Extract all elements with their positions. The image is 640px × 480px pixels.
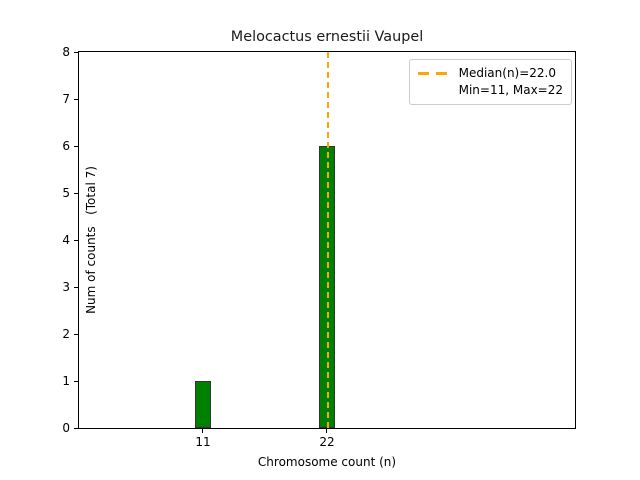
y-tick-label: 2 (62, 328, 70, 340)
y-tick-label: 7 (62, 93, 70, 105)
x-axis-label: Chromosome count (n) (78, 455, 576, 469)
plot-area: 0 1 2 3 4 5 6 (78, 51, 576, 429)
y-tick-label: 6 (62, 140, 70, 152)
y-axis-label: Num of counts (Total 7) (85, 166, 97, 314)
y-tick-label: 1 (62, 375, 70, 387)
y-tick-label: 5 (62, 187, 70, 199)
y-tick-mark (74, 287, 79, 288)
chart-legend: Median(n)=22.0 Min=11, Max=22 (409, 59, 572, 105)
legend-text: Median(n)=22.0 Min=11, Max=22 (459, 66, 563, 98)
y-tick-mark (74, 334, 79, 335)
y-tick-label: 3 (62, 281, 70, 293)
bar-11 (195, 381, 211, 428)
chart-title: Melocactus ernestii Vaupel (78, 28, 576, 46)
median-line (327, 52, 329, 428)
plot-inner: 0 1 2 3 4 5 6 (79, 52, 575, 428)
y-tick-label: 4 (62, 234, 70, 246)
legend-median-label: Median(n)=22.0 (459, 66, 563, 81)
x-tick-mark (326, 428, 327, 433)
y-tick-mark (74, 52, 79, 53)
y-tick-mark (74, 146, 79, 147)
x-tick-mark (202, 428, 203, 433)
y-tick-mark (74, 428, 79, 429)
y-tick-label: 0 (62, 422, 70, 434)
chart-figure: Melocactus ernestii Vaupel 0 1 2 3 (0, 0, 640, 480)
legend-minmax-label: Min=11, Max=22 (459, 83, 563, 98)
legend-dashed-line-icon (417, 66, 451, 81)
x-tick-label: 11 (195, 436, 210, 448)
y-tick-mark (74, 99, 79, 100)
y-tick-mark (74, 240, 79, 241)
x-tick-label: 22 (319, 436, 334, 448)
y-tick-mark (74, 381, 79, 382)
y-tick-mark (74, 193, 79, 194)
y-tick-label: 8 (62, 46, 70, 58)
